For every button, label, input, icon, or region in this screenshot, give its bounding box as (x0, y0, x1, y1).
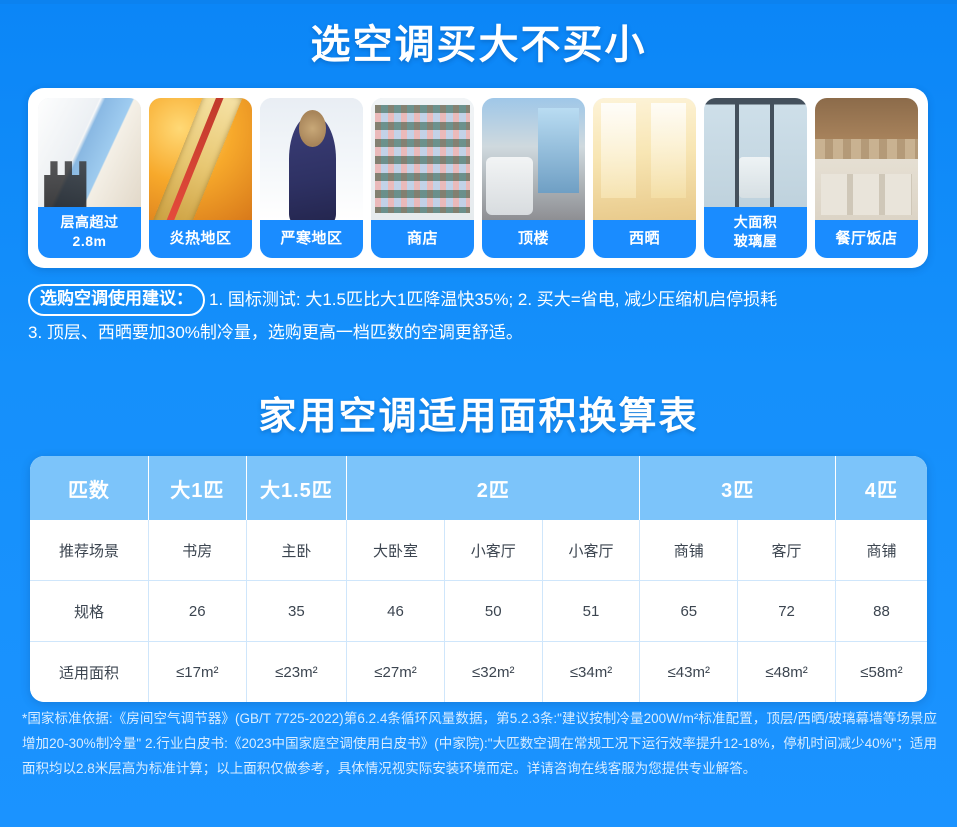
scene-card-label: 餐厅饭店 (815, 220, 918, 258)
row-label: 适用面积 (30, 642, 148, 703)
table-row: 推荐场景 书房 主卧 大卧室 小客厅 小客厅 商铺 客厅 商铺 (30, 520, 927, 581)
promo-page: 选空调买大不买小 层高超过 2.8m 炎热地区 严寒地区 商店 顶 (0, 0, 957, 827)
table-cell: ≤43m² (640, 642, 738, 703)
conversion-table: 匹数 大1匹 大1.5匹 2匹 3匹 4匹 推荐场景 书房 主卧 大卧室 小客厅… (30, 456, 927, 702)
table-cell: ≤34m² (542, 642, 640, 703)
page-title: 选空调买大不买小 (0, 20, 957, 70)
scene-card-label: 大面积 玻璃屋 (704, 207, 807, 258)
table-cell: 72 (738, 581, 836, 642)
scene-card[interactable]: 餐厅饭店 (815, 98, 918, 258)
advice-badge: 选购空调使用建议： (28, 284, 205, 316)
table-header-cell: 大1匹 (148, 456, 246, 520)
top-floor-image (482, 98, 585, 220)
scene-card-label-line2: 2.8m (73, 233, 107, 249)
table-cell: ≤23m² (246, 642, 346, 703)
table-cell: 小客厅 (444, 520, 542, 581)
table-header-row: 匹数 大1匹 大1.5匹 2匹 3匹 4匹 (30, 456, 927, 520)
table-cell: 书房 (148, 520, 246, 581)
table-cell: 主卧 (246, 520, 346, 581)
scene-card-label: 商店 (371, 220, 474, 258)
table-header-cell: 2匹 (347, 456, 640, 520)
store-image (371, 98, 474, 220)
table-cell: 小客厅 (542, 520, 640, 581)
scene-card[interactable]: 西晒 (593, 98, 696, 258)
scene-card-label: 顶楼 (482, 220, 585, 258)
table-cell: 88 (835, 581, 927, 642)
table-row: 规格 26 35 46 50 51 65 72 88 (30, 581, 927, 642)
advice-block: 选购空调使用建议：1. 国标测试: 大1.5匹比大1匹降温快35%; 2. 买大… (28, 282, 933, 349)
scene-card[interactable]: 顶楼 (482, 98, 585, 258)
cold-region-image (260, 98, 363, 220)
scene-card-strip: 层高超过 2.8m 炎热地区 严寒地区 商店 顶楼 西晒 (28, 88, 928, 268)
table-header-cell: 3匹 (640, 456, 836, 520)
west-sun-image (593, 98, 696, 220)
table-cell: 50 (444, 581, 542, 642)
high-ceiling-image (38, 98, 141, 207)
table-cell: 51 (542, 581, 640, 642)
row-label: 规格 (30, 581, 148, 642)
glass-house-image (704, 98, 807, 207)
table-cell: 大卧室 (347, 520, 445, 581)
table-header-cell: 匹数 (30, 456, 148, 520)
table-cell: 65 (640, 581, 738, 642)
top-edge-bar (0, 0, 957, 4)
advice-line-2: 3. 顶层、西晒要加30%制冷量，选购更高一档匹数的空调更舒适。 (28, 316, 933, 349)
table-header-cell: 4匹 (835, 456, 927, 520)
table-cell: ≤27m² (347, 642, 445, 703)
table-cell: 商铺 (640, 520, 738, 581)
table-cell: ≤17m² (148, 642, 246, 703)
scene-card[interactable]: 层高超过 2.8m (38, 98, 141, 258)
scene-card[interactable]: 严寒地区 (260, 98, 363, 258)
scene-card-label: 严寒地区 (260, 220, 363, 258)
table-header-cell: 大1.5匹 (246, 456, 346, 520)
restaurant-image (815, 98, 918, 220)
table-title: 家用空调适用面积换算表 (0, 385, 957, 440)
scene-card-label-line2: 玻璃屋 (734, 233, 778, 249)
scene-card-label: 层高超过 2.8m (38, 207, 141, 258)
scene-card[interactable]: 大面积 玻璃屋 (704, 98, 807, 258)
footnote: *国家标准依据:《房间空气调节器》(GB/T 7725-2022)第6.2.4条… (22, 706, 937, 781)
row-label: 推荐场景 (30, 520, 148, 581)
scene-card-label-line1: 层高超过 (61, 214, 119, 230)
table-cell: 46 (347, 581, 445, 642)
table-row: 适用面积 ≤17m² ≤23m² ≤27m² ≤32m² ≤34m² ≤43m²… (30, 642, 927, 703)
scene-card-label-line1: 大面积 (734, 214, 778, 230)
table-cell: 商铺 (835, 520, 927, 581)
hot-region-image (149, 98, 252, 220)
table-cell: 35 (246, 581, 346, 642)
table-cell: ≤58m² (835, 642, 927, 703)
table-cell: ≤48m² (738, 642, 836, 703)
scene-card-label: 西晒 (593, 220, 696, 258)
advice-line-1: 1. 国标测试: 大1.5匹比大1匹降温快35%; 2. 买大=省电, 减少压缩… (209, 290, 777, 309)
scene-card-label: 炎热地区 (149, 220, 252, 258)
scene-card[interactable]: 炎热地区 (149, 98, 252, 258)
table-cell: 26 (148, 581, 246, 642)
table-cell: 客厅 (738, 520, 836, 581)
scene-card[interactable]: 商店 (371, 98, 474, 258)
table-cell: ≤32m² (444, 642, 542, 703)
